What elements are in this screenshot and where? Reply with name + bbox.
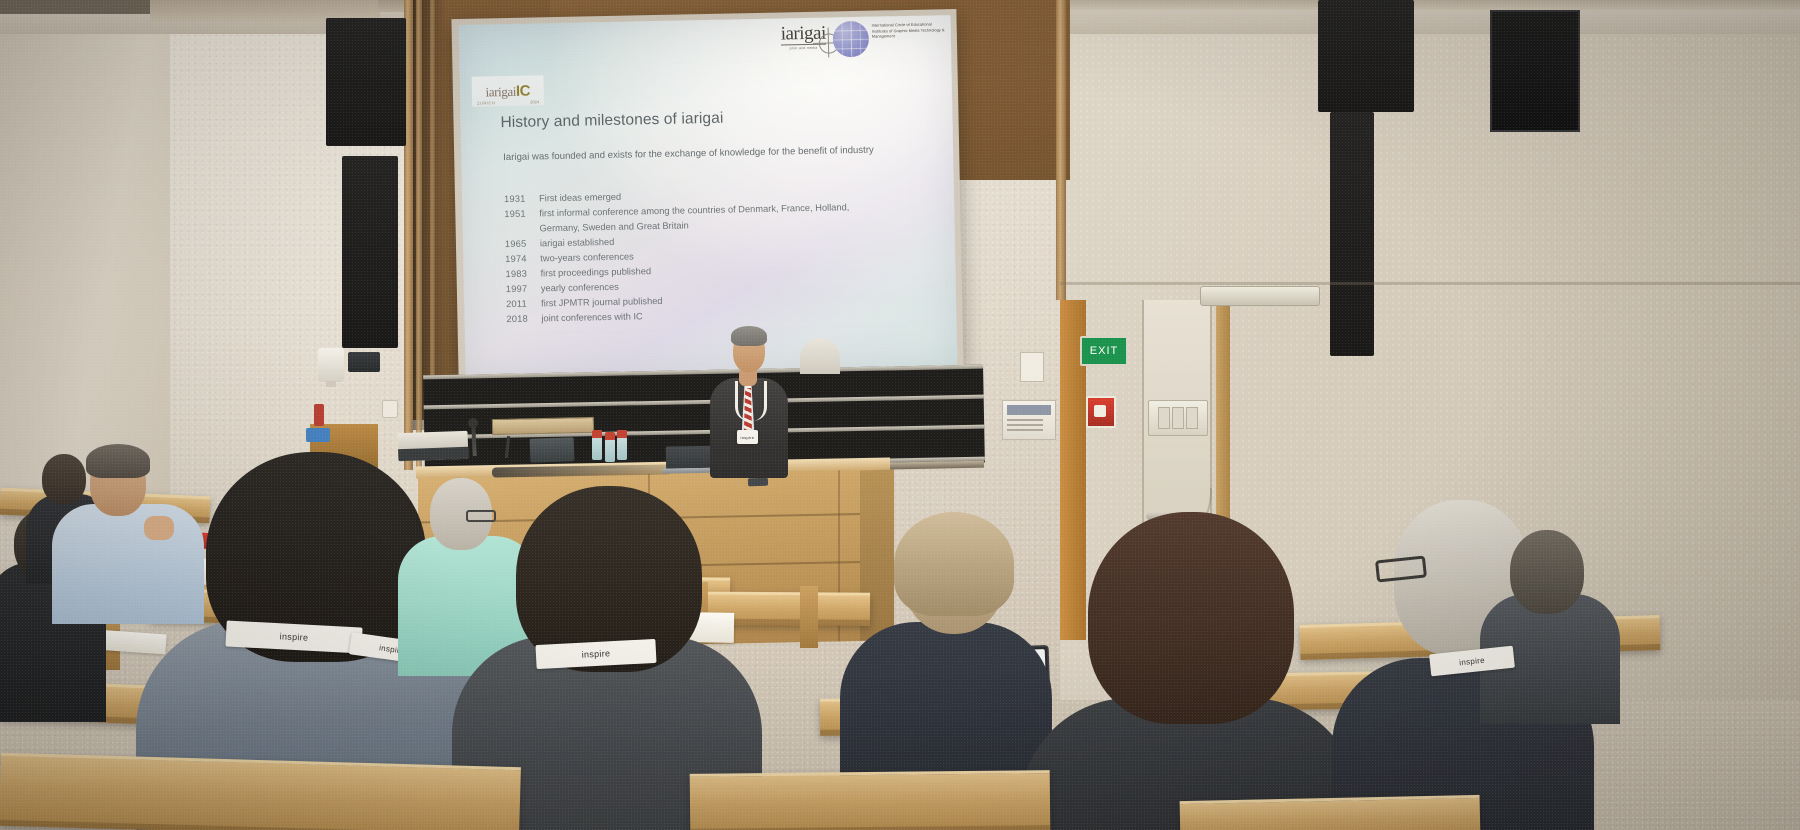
door-closer: [1200, 286, 1320, 306]
chalk-shelf: [492, 417, 594, 435]
wall-poster: [1002, 400, 1056, 440]
milestone-year: 1983: [505, 267, 531, 283]
water-bottles: [592, 430, 628, 466]
slide-lead-text: Iarigai was founded and exists for the e…: [503, 145, 874, 163]
wood-trim: [1056, 0, 1066, 300]
international-circle-logo: International Circle of Educational Inst…: [833, 19, 946, 63]
iarigai-ic-logo: iarigaiIC ZURICH 2024: [472, 75, 545, 106]
slide-title: History and milestones of iarigai: [500, 110, 723, 132]
fire-alarm-call-point[interactable]: [1086, 396, 1116, 428]
logo-word: iarigai: [485, 83, 516, 99]
milestone-year: 2011: [506, 297, 532, 313]
milestone-year: 1965: [505, 237, 531, 253]
audience-head: [1510, 530, 1584, 614]
milestone-text: joint conferences with IC: [541, 310, 643, 327]
lanyard-text: inspire: [1459, 655, 1485, 667]
audience-hair: [894, 512, 1014, 616]
presentation-slide: iarigaiIC ZURICH 2024 iarigai print and …: [459, 15, 958, 377]
desk-support: [800, 586, 818, 648]
wall-socket: [382, 400, 398, 418]
globe-icon: [833, 21, 870, 58]
audience-member: [1490, 530, 1610, 710]
milestone-year: 2018: [506, 312, 532, 328]
smartphone: [748, 478, 768, 487]
sanitizer-dispenser: [318, 348, 344, 382]
red-bottle: [314, 404, 324, 426]
audience-member-foreground: [1040, 512, 1340, 830]
milestone-text: first proceedings published: [540, 264, 651, 281]
desk-monitor: [530, 437, 575, 463]
wood-trim: [416, 0, 422, 470]
ceiling-recess: [0, 0, 150, 14]
exit-sign: EXIT: [1080, 336, 1128, 366]
speaker-box-left-upper: [326, 18, 406, 146]
desk-row-foreground: [0, 753, 521, 830]
projection-screen: iarigaiIC ZURICH 2024 iarigai print and …: [459, 15, 958, 377]
milestone-year: 1951: [504, 207, 530, 223]
speaker-box-left-lower: [342, 156, 398, 348]
light-switch-panel[interactable]: [1148, 400, 1208, 436]
milestone-list: 1931First ideas emerged1951first informa…: [504, 185, 852, 327]
wall-sign: [348, 352, 380, 372]
audience-hair: [86, 444, 150, 478]
slide-header: iarigaiIC ZURICH 2024 iarigai print and …: [459, 15, 952, 103]
desk-row-foreground: [690, 770, 1051, 830]
blue-box: [306, 428, 330, 442]
wall-monitor: [1490, 10, 1580, 132]
wall-notice: [1020, 352, 1044, 382]
presenter-badge: inspire: [737, 430, 758, 444]
logo-year: 2024: [530, 99, 539, 104]
lanyard-text: inspire: [581, 648, 610, 659]
wall-divider: [1060, 282, 1800, 285]
speaker-box-right-upper: [1318, 0, 1414, 112]
milestone-year: 1974: [505, 252, 531, 268]
milestone-text: first JPMTR journal published: [541, 294, 663, 311]
speaker-box-right-lower: [1330, 112, 1374, 356]
lecture-hall-photo: iarigaiIC ZURICH 2024 iarigai print and …: [0, 0, 1800, 830]
milestone-year: 1997: [506, 282, 532, 298]
left-wall-corner: [0, 0, 170, 500]
logo-city: ZURICH: [477, 100, 495, 105]
audience-head: [1088, 512, 1294, 724]
ic-logo-text: International Circle of Educational Inst…: [872, 19, 945, 40]
desk-row-foreground: [1180, 795, 1481, 830]
milestone-text: First ideas emerged: [539, 190, 621, 207]
presenter: inspire: [706, 326, 790, 476]
presenter-lanyard-strap: [735, 381, 767, 421]
logo-mark: IC: [516, 82, 531, 99]
milestone-text: iarigai established: [540, 235, 615, 252]
lanyard-text: inspire: [279, 631, 308, 642]
white-dome-object: [800, 338, 840, 374]
badge-text: inspire: [741, 435, 755, 440]
milestone-year: 1931: [504, 192, 530, 208]
exit-sign-label: EXIT: [1090, 345, 1118, 357]
milestone-text: yearly conferences: [541, 280, 619, 297]
presenter-hair: [731, 326, 767, 346]
